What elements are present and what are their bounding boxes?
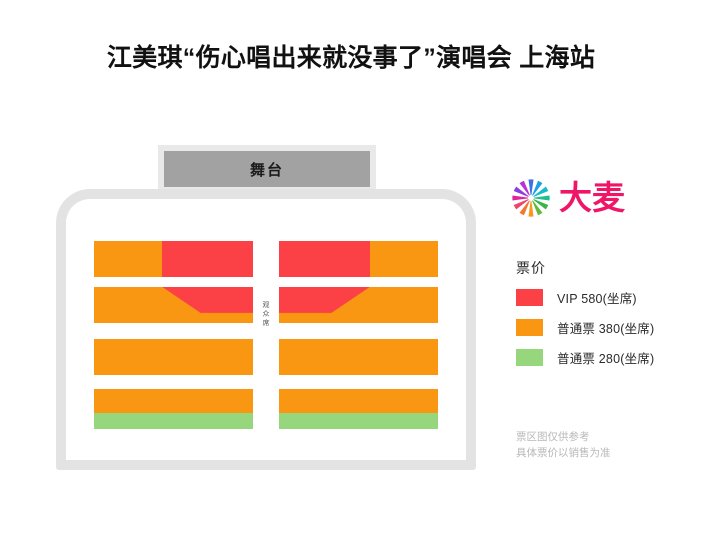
venue-seating-map: 舞台 [56, 145, 476, 470]
seat-segment-standard280[interactable] [94, 413, 253, 429]
seat-segment-vip580[interactable] [279, 241, 370, 277]
seat-block-row1-left[interactable] [94, 241, 253, 277]
seat-block-row3-left[interactable] [94, 339, 253, 375]
seat-row-1 [94, 241, 438, 277]
legend-swatch-standard-280 [516, 349, 543, 366]
seat-row-4 [94, 389, 438, 429]
legend-item-vip[interactable]: VIP 580(坐席) [516, 289, 686, 306]
brand-name: 大麦 [559, 180, 625, 216]
seat-segment-standard380[interactable] [370, 241, 438, 277]
legend-label-vip: VIP 580(坐席) [557, 288, 637, 307]
seat-block-row2-right[interactable] [279, 287, 438, 323]
seating-field: 观 众 席 [94, 241, 438, 425]
seat-segment-standard380[interactable] [94, 389, 253, 413]
legend-item-standard-380[interactable]: 普通票 380(坐席) [516, 319, 686, 336]
disclaimer-line-2: 具体票价以销售为准 [516, 445, 696, 461]
legend-swatch-standard-380 [516, 319, 543, 336]
stage-frame: 舞台 [158, 145, 376, 193]
aisle-char-3: 席 [257, 319, 275, 328]
legend-heading: 票价 [516, 258, 686, 278]
stage-label: 舞台 [164, 151, 370, 187]
seat-segment-standard280[interactable] [279, 413, 438, 429]
brand-logo: 大麦 [510, 174, 650, 222]
legend-swatch-vip [516, 289, 543, 306]
price-legend: 票价 VIP 580(坐席) 普通票 380(坐席) 普通票 280(坐席) [516, 258, 686, 379]
seat-segment-standard380[interactable] [94, 339, 253, 375]
seat-block-row4-left[interactable] [94, 389, 253, 429]
seat-row-3 [94, 339, 438, 375]
aisle-char-2: 众 [257, 310, 275, 319]
seat-block-row3-right[interactable] [279, 339, 438, 375]
disclaimer-note: 票区图仅供参考 具体票价以销售为准 [516, 429, 696, 461]
center-aisle-label: 观 众 席 [257, 301, 275, 328]
aisle-char-1: 观 [257, 301, 275, 310]
seat-block-row4-right[interactable] [279, 389, 438, 429]
legend-item-standard-280[interactable]: 普通票 280(坐席) [516, 349, 686, 366]
seat-segment-standard380[interactable] [279, 389, 438, 413]
legend-label-standard-280: 普通票 280(坐席) [557, 348, 654, 367]
seat-block-row1-right[interactable] [279, 241, 438, 277]
damai-pinwheel-icon [510, 177, 552, 219]
seat-segment-standard380[interactable] [94, 241, 162, 277]
seat-segment-vip580[interactable] [162, 241, 253, 277]
disclaimer-line-1: 票区图仅供参考 [516, 429, 696, 445]
seat-block-row2-left[interactable] [94, 287, 253, 323]
legend-label-standard-380: 普通票 380(坐席) [557, 318, 654, 337]
page-title: 江美琪“伤心唱出来就没事了”演唱会 上海站 [0, 41, 702, 75]
seat-segment-standard380[interactable] [279, 339, 438, 375]
